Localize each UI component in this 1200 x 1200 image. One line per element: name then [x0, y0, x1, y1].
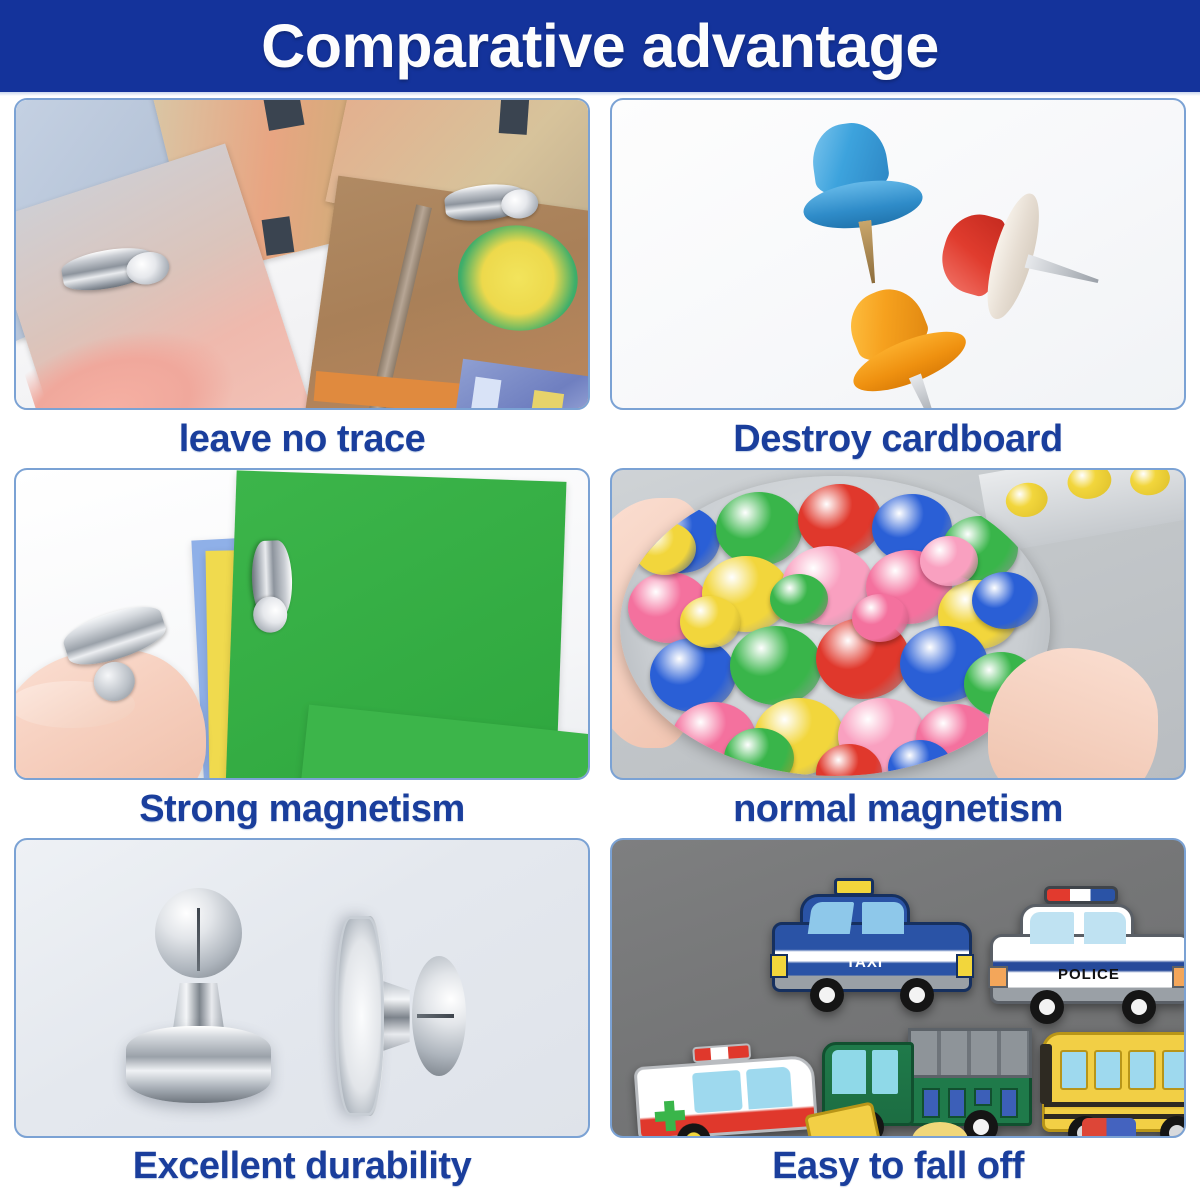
caption-normal-magnetism: normal magnetism [610, 780, 1186, 838]
dome-magnet [634, 522, 696, 575]
cell-excellent-durability: Excellent durability [14, 838, 590, 1194]
truck-crate-load [908, 1028, 1032, 1078]
blue-pushpin-icon [792, 114, 932, 279]
image-panel-normal-magnetism [610, 468, 1186, 780]
dome-magnet [650, 638, 736, 712]
taxi-window-front [808, 902, 854, 934]
cell-normal-magnetism: normal magnetism [610, 468, 1186, 838]
cell-strong-magnetism: Strong magnetism [14, 468, 590, 838]
caption-easy-to-fall-off: Easy to fall off [610, 1138, 1186, 1194]
infographic-page: Comparative advantage [0, 0, 1200, 1200]
bus-stripe-upper [1044, 1102, 1186, 1107]
taxi-taillight [956, 954, 974, 978]
truck-window-front [832, 1050, 866, 1094]
bus-window-3 [1128, 1050, 1156, 1090]
cell-leave-no-trace: leave no trace [14, 98, 590, 468]
dome-magnet [852, 594, 908, 642]
police-wheel-front [1030, 990, 1064, 1024]
pushpin-needle [1024, 254, 1100, 288]
header-underline [0, 92, 1200, 96]
dome-magnet [972, 572, 1038, 629]
taxi-magnet: TAXI [772, 892, 972, 1017]
police-taillight [1172, 966, 1186, 988]
truck-panel-3 [974, 1088, 992, 1106]
dome-magnet [1065, 468, 1114, 502]
police-wheel-rear [1122, 990, 1156, 1024]
truck-panel-4 [1000, 1088, 1018, 1118]
truck-window-side [872, 1050, 898, 1094]
taxi-headlight [770, 954, 788, 978]
image-panel-strong-magnetism [14, 468, 590, 780]
bus-window-2 [1094, 1050, 1122, 1090]
image-panel-destroy-cardboard [610, 98, 1186, 410]
magnet-knob [412, 956, 466, 1076]
police-window-rear [1084, 912, 1126, 944]
dome-magnet [798, 484, 882, 556]
pushpin-magnet-right [443, 181, 528, 245]
pushpin-needle [858, 220, 880, 284]
truck-panel-1 [922, 1088, 940, 1118]
police-label: POLICE [1058, 966, 1120, 983]
partial-magnet-red-blue [1082, 1118, 1136, 1138]
dome-magnet [680, 596, 740, 648]
taxi-wheel-rear [900, 978, 934, 1012]
ambulance-window-front [692, 1070, 743, 1113]
tilted-chrome-magnet [338, 916, 466, 1116]
taxi-wheel-front [810, 978, 844, 1012]
ambulance-window-rear [746, 1066, 793, 1109]
bowl-of-magnets [620, 476, 1050, 776]
police-headlight [988, 966, 1008, 988]
photo-poster-detail [445, 359, 590, 410]
dark-block-3 [499, 98, 530, 135]
magnet-disc [126, 1026, 271, 1103]
ambulance-magnet [632, 1039, 819, 1138]
bus-window-1 [1060, 1050, 1088, 1090]
dome-magnet [730, 626, 822, 705]
dome-magnet [770, 574, 828, 624]
dome-magnet [716, 492, 802, 566]
dark-block-2 [262, 216, 295, 256]
police-lightbar [1044, 886, 1118, 904]
taxi-label: TAXI [846, 954, 883, 971]
image-panel-easy-to-fall-off: TAXI POLICE [610, 838, 1186, 1138]
bus-door [1040, 1044, 1052, 1104]
police-car-magnet: POLICE [990, 900, 1186, 1028]
pushpin-magnet-on-sheets [227, 540, 294, 620]
caption-strong-magnetism: Strong magnetism [14, 780, 590, 838]
truck-panel-2 [948, 1088, 966, 1118]
caption-leave-no-trace: leave no trace [14, 410, 590, 468]
page-title: Comparative advantage [261, 16, 939, 77]
header-banner: Comparative advantage [0, 0, 1200, 92]
comparison-grid: leave no trace [14, 98, 1186, 1194]
magnet-knob [155, 888, 242, 978]
image-panel-excellent-durability [14, 838, 590, 1138]
upright-chrome-magnet [126, 888, 271, 1103]
bus-window-4 [1162, 1050, 1186, 1090]
cell-easy-to-fall-off: TAXI POLICE [610, 838, 1186, 1194]
truck-wheel-rear [964, 1110, 998, 1138]
dome-magnet [1003, 479, 1050, 520]
pushpin-needle [909, 374, 943, 410]
caption-destroy-cardboard: Destroy cardboard [610, 410, 1186, 468]
taxi-window-rear [862, 902, 904, 934]
photo-e [297, 176, 590, 410]
image-panel-leave-no-trace [14, 98, 590, 410]
magnet-disc-face [335, 916, 384, 1116]
dome-magnet [1128, 468, 1173, 498]
dome-magnet [920, 536, 978, 586]
caption-excellent-durability: Excellent durability [14, 1138, 590, 1194]
police-window-front [1030, 912, 1074, 944]
cell-destroy-cardboard: Destroy cardboard [610, 98, 1186, 468]
